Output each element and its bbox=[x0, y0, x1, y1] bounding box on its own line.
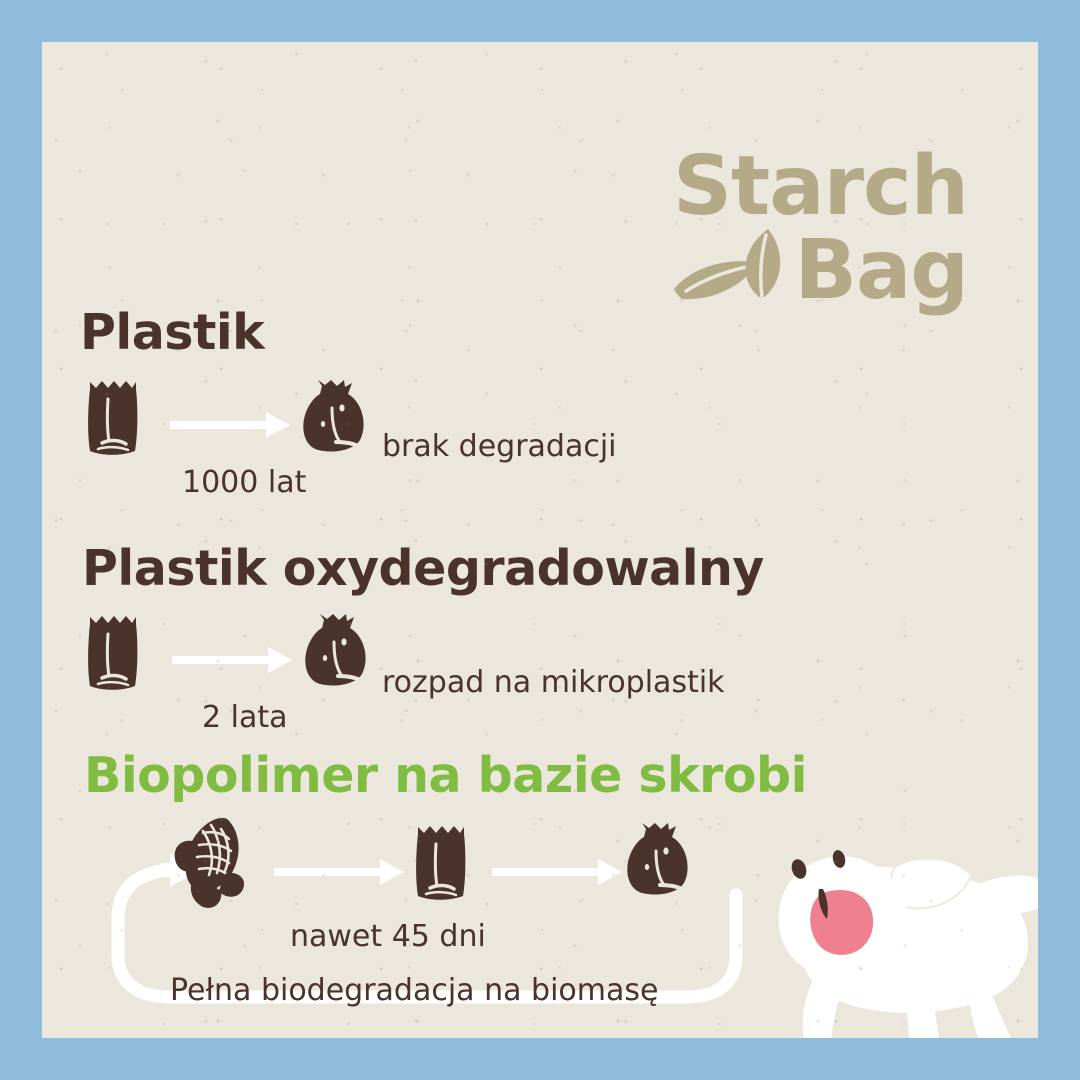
plastic-bag-icon bbox=[410, 822, 472, 908]
leaf-pair-icon bbox=[672, 227, 790, 307]
arrow-right-icon bbox=[274, 859, 404, 889]
brand-logo: Starch Bag bbox=[672, 147, 968, 311]
duration-label-plastik: 1000 lat bbox=[182, 465, 306, 500]
plastic-bag-icon bbox=[82, 377, 144, 463]
section-title-biopolimer: Biopolimer na bazie skrobi bbox=[84, 747, 807, 804]
duration-label-plastik-oxydegradowalny: 2 lata bbox=[202, 700, 288, 735]
corn-cob-icon bbox=[167, 815, 251, 915]
result-label-plastik: brak degradacji bbox=[382, 429, 617, 464]
arrow-right-icon bbox=[170, 412, 290, 442]
plastic-bag-icon bbox=[82, 612, 144, 698]
duration-label-biopolimer: nawet 45 dni bbox=[290, 919, 486, 954]
result-label-plastik-oxydegradowalny: rozpad na mikroplastik bbox=[382, 665, 725, 700]
poster-frame: Starch Bag Plastik bbox=[0, 0, 1080, 1080]
tied-sack-icon bbox=[298, 380, 370, 460]
arrow-right-icon bbox=[492, 859, 622, 889]
dog-illustration bbox=[757, 827, 1038, 1038]
tied-sack-icon bbox=[300, 614, 372, 694]
tied-sack-icon bbox=[622, 823, 694, 903]
section-title-plastik: Plastik bbox=[80, 304, 264, 361]
logo-line-bag: Bag bbox=[794, 231, 968, 311]
section-title-plastik-oxydegradowalny: Plastik oxydegradowalny bbox=[82, 540, 764, 597]
result-label-biopolimer: Pełna biodegradacja na biomasę bbox=[170, 973, 658, 1008]
poster-panel: Starch Bag Plastik bbox=[42, 42, 1038, 1038]
arrow-right-icon bbox=[172, 647, 292, 677]
logo-line-starch: Starch bbox=[672, 147, 968, 227]
